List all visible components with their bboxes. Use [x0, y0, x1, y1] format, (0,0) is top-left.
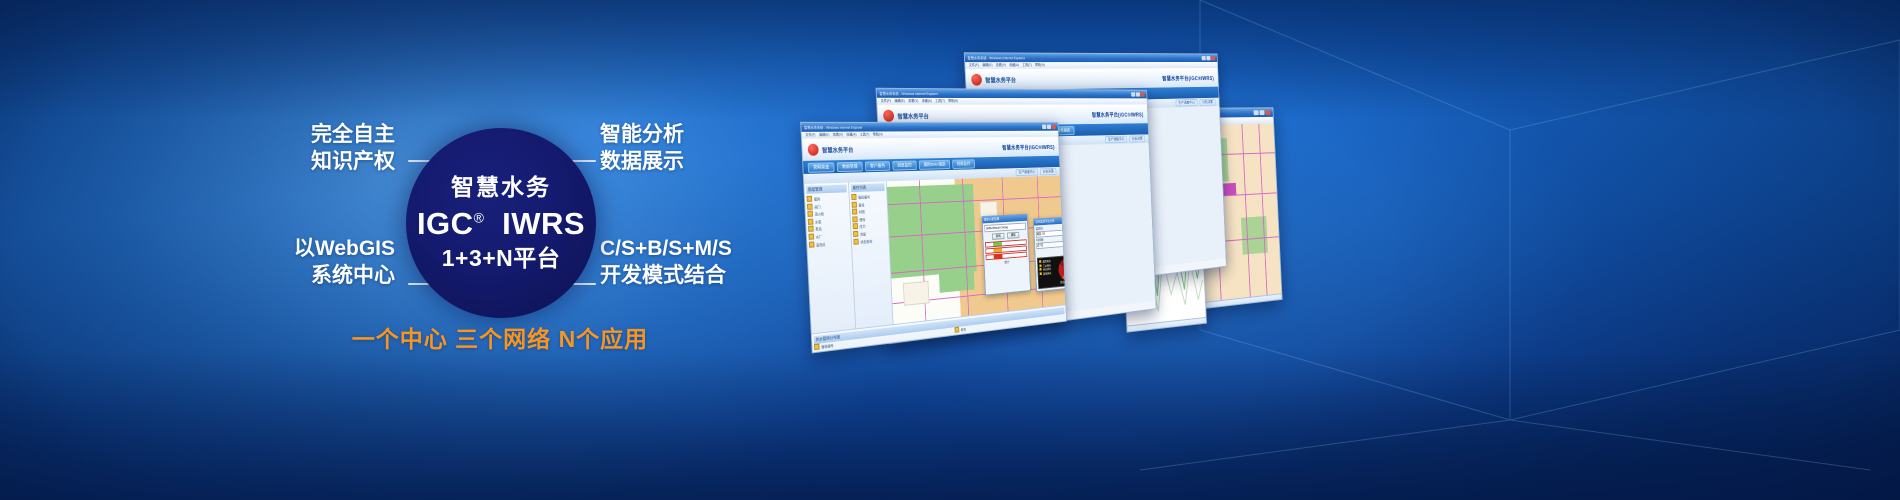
status-alarm-swatch [994, 254, 1003, 258]
feature-bottom-left: 以WebGIS 系统中心 [170, 236, 395, 290]
center-badge: 智慧水务 IGC® IWRS 1+3+N平台 [406, 128, 596, 318]
titlebar-text: 智慧水务系统 - Windows Internet Explorer [804, 125, 863, 130]
minimize-icon [1202, 56, 1206, 60]
center-badge-iwrs: IWRS [502, 206, 585, 241]
menu-item[interactable]: 帮助(H) [1035, 63, 1045, 68]
close-icon [1265, 110, 1270, 115]
window-controls[interactable] [1131, 92, 1145, 96]
window-controls[interactable] [1042, 125, 1056, 129]
status-normal-swatch [993, 242, 1002, 246]
menu-item[interactable]: 编辑(E) [894, 99, 905, 104]
feature-top-left: 完全自主 知识产权 [170, 122, 395, 176]
dialog-realtime-monitor[interactable]: 实时监测平台分析 监测点: 城区-01 时间段: 近7天 居民用水 工业用水 [1033, 216, 1065, 292]
nav-item[interactable]: 客户服务 [865, 161, 890, 171]
tagline: 一个中心 三个网络 N个应用 [170, 320, 830, 354]
screenshot-stack: 管网总览 城区管网图 数据分析 [790, 50, 1310, 350]
menu-item[interactable]: 帮助(H) [948, 99, 958, 104]
company-logo-icon [808, 144, 819, 156]
concept-diagram: 完全自主 知识产权 以WebGIS 系统中心 智能分析 数据展示 C/S+B/S… [0, 0, 820, 430]
minimize-icon [1042, 125, 1046, 129]
status-warning-swatch [993, 248, 1002, 252]
close-icon [1211, 56, 1215, 60]
menu-item[interactable]: 工具(T) [935, 99, 945, 104]
menu-item[interactable]: 查看(V) [996, 63, 1006, 68]
layer-panel-header: 图层管理 [806, 185, 847, 194]
subnav-item[interactable]: 生产调度中心 [1016, 168, 1039, 176]
attribute-panel-header: 属性列表 [851, 183, 885, 192]
nav-item[interactable]: 数据管理 [837, 161, 863, 171]
window-browser-front[interactable]: 智慧水务系统 - Windows Internet Explorer 文件(F)… [800, 122, 1067, 354]
menu-item[interactable]: 文件(F) [881, 99, 892, 104]
app-title: 智慧水务平台(IGC®IWRS) [1162, 74, 1214, 82]
banner-root: 完全自主 知识产权 以WebGIS 系统中心 智能分析 数据展示 C/S+B/S… [0, 0, 1900, 500]
menu-item[interactable]: 收藏(A) [922, 99, 932, 104]
menu-item[interactable]: 查看(V) [833, 133, 843, 138]
attribute-list[interactable]: 管段编号 管径 材质 埋深 压力 流量 状态查询 [851, 193, 887, 246]
nav-item[interactable]: 视频监控 [952, 159, 975, 169]
gis-map-canvas[interactable]: 漏水分析结果 DMA-Result-Cheng 查询 清除 统计 [887, 176, 1066, 325]
titlebar-text: 智慧水务系统 - Windows Internet Explorer [967, 55, 1025, 60]
maximize-icon [1136, 92, 1140, 96]
titlebar: 智慧水务系统 - Windows Internet Explorer [965, 53, 1217, 62]
menu-item[interactable]: 查看(V) [908, 99, 918, 104]
feature-top-left-line2: 知识产权 [170, 149, 395, 176]
map-block [903, 281, 929, 306]
subnav-item[interactable]: 生产调度中心 [1105, 136, 1127, 144]
feature-bottom-left-line1: 以WebGIS [170, 236, 395, 263]
menu-item[interactable]: 收藏(A) [846, 133, 856, 138]
maximize-icon [1259, 110, 1264, 115]
close-icon [1052, 125, 1056, 129]
nav-item[interactable]: 管网普查 [808, 162, 835, 173]
legend-item: 其他用水 [1040, 271, 1052, 276]
attribute-item[interactable]: 状态查询 [853, 236, 887, 246]
brand-text: 智慧水务平台 [822, 145, 854, 154]
maximize-icon [1047, 125, 1051, 129]
app-title: 智慧水务平台(IGC®IWRS) [1092, 110, 1144, 118]
menu-item[interactable]: 收藏(A) [1009, 63, 1019, 68]
menu-item[interactable]: 编辑(E) [982, 63, 992, 68]
feature-bottom-left-line2: 系统中心 [170, 263, 395, 290]
layer-panel[interactable]: 图层管理 管网 阀门 消火栓 水表 泵站 水厂 监测点 [804, 183, 856, 334]
menu-item[interactable]: 编辑(E) [819, 133, 830, 138]
registered-mark-icon: ® [474, 210, 484, 226]
dialog-content: 监测点: 城区-01 时间段: 近7天 居民用水 工业用水 商业用水 其他 [1034, 223, 1065, 253]
subnav-item[interactable]: 分析决策 [1040, 168, 1057, 175]
company-logo-icon [971, 74, 982, 86]
center-badge-line3: 1+3+N平台 [442, 247, 561, 270]
center-badge-line1: 智慧水务 [451, 176, 551, 199]
menu-item[interactable]: 文件(F) [969, 63, 979, 68]
feature-top-left-line1: 完全自主 [170, 122, 395, 149]
center-badge-igc: IGC [417, 206, 474, 241]
map-region-green [938, 253, 975, 293]
menu-item[interactable]: 工具(T) [1022, 63, 1032, 68]
maximize-icon [1206, 56, 1210, 60]
donut-chart-title: 供水量 52.23 [1060, 280, 1065, 286]
dialog-leak-analysis[interactable]: 漏水分析结果 DMA-Result-Cheng 查询 清除 统计 [982, 214, 1031, 296]
nav-item[interactable]: 调度监控 [892, 160, 917, 170]
menu-item[interactable]: 文件(F) [805, 133, 816, 138]
dialog-footer: 统计 [986, 259, 1028, 267]
titlebar-text: 智慧水务系统 - Windows Internet Explorer [879, 91, 938, 97]
app-title: 智慧水务平台(IGC®IWRS) [1002, 142, 1055, 151]
center-badge-line2: IGC® IWRS [417, 208, 585, 239]
minimize-icon [1131, 92, 1135, 96]
menu-item[interactable]: 帮助(H) [873, 132, 883, 137]
donut-chart-panel: 居民用水 工业用水 商业用水 其他用水 供水量 52.23 [1037, 255, 1065, 290]
donut-legend: 居民用水 工业用水 商业用水 其他用水 [1039, 259, 1051, 276]
query-button[interactable]: 查询 [992, 233, 1005, 240]
nav-item[interactable]: 漏损DMA辅助 [919, 159, 951, 169]
window-controls[interactable] [1202, 56, 1216, 60]
subnav-item[interactable]: 分析决策 [1129, 135, 1145, 142]
dialog-content: DMA-Result-Cheng 查询 清除 统计 [983, 221, 1029, 269]
subnav-item[interactable]: 分析决策 [1199, 99, 1215, 106]
layer-tree[interactable]: 管网 阀门 消火栓 水表 泵站 水厂 监测点 [807, 194, 850, 249]
window-controls[interactable] [1254, 110, 1271, 115]
subnav-item[interactable]: 生产调度中心 [1175, 99, 1197, 106]
close-icon [1140, 92, 1144, 96]
brand-text: 智慧水务平台 [897, 111, 929, 120]
clear-button[interactable]: 清除 [1007, 232, 1019, 239]
company-logo-icon [883, 110, 894, 122]
menu-item[interactable]: 工具(T) [860, 133, 870, 138]
minimize-icon [1254, 110, 1259, 115]
brand-text: 智慧水务平台 [985, 75, 1016, 84]
